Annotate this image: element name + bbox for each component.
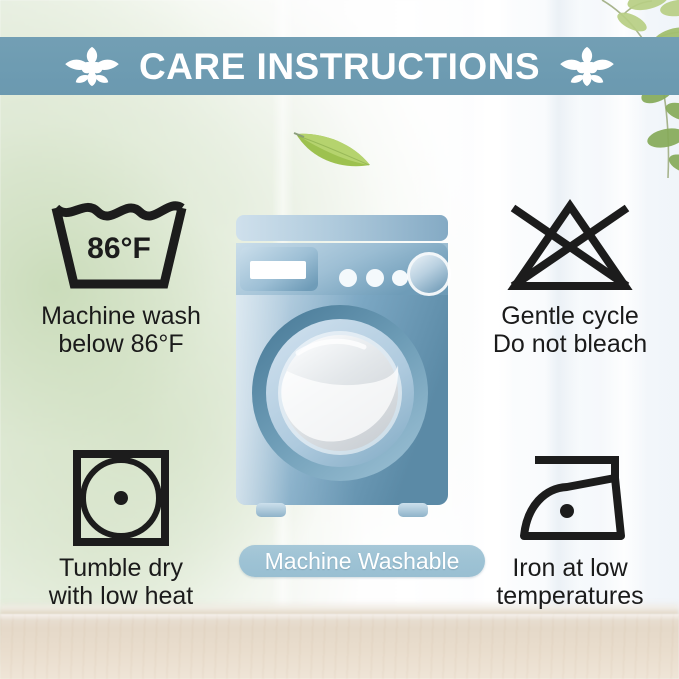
care-symbol-iron: Iron at low temperatures	[470, 448, 670, 611]
iron-icon	[495, 448, 645, 548]
indicator-button-3[interactable]	[392, 270, 408, 286]
floating-leaf-icon	[292, 118, 378, 174]
wooden-table-surface	[0, 614, 679, 679]
fleur-de-lis-icon	[558, 44, 616, 88]
triangle-crossed-out-icon	[495, 196, 645, 296]
washing-machine-illustration	[232, 213, 452, 533]
machine-washable-badge: Machine Washable	[239, 545, 485, 577]
tumble-dry-square-icon	[61, 448, 181, 548]
drawer-display	[250, 261, 306, 279]
indicator-button-2[interactable]	[366, 269, 384, 287]
care-symbol-caption: Gentle cycle Do not bleach	[493, 302, 647, 359]
care-instructions-graphic: CARE INSTRUCTIONS 86°F Machine wash belo…	[0, 0, 679, 679]
washer-top-lid	[236, 215, 448, 241]
fleur-de-lis-icon	[63, 44, 121, 88]
washer-foot-right	[398, 503, 428, 517]
header-banner: CARE INSTRUCTIONS	[0, 37, 679, 95]
badge-label: Machine Washable	[265, 550, 460, 573]
indicator-button-1[interactable]	[339, 269, 357, 287]
care-symbol-tumble-dry: Tumble dry with low heat	[16, 448, 226, 611]
wash-tub-icon: 86°F	[46, 196, 196, 296]
care-symbol-caption: Iron at low temperatures	[496, 554, 643, 611]
care-symbol-caption: Tumble dry with low heat	[49, 554, 194, 611]
care-symbol-gentle-no-bleach: Gentle cycle Do not bleach	[470, 196, 670, 359]
wash-temperature-label: 86°F	[87, 232, 151, 265]
washer-foot-left	[256, 503, 286, 517]
care-symbol-caption: Machine wash below 86°F	[41, 302, 201, 359]
page-title: CARE INSTRUCTIONS	[139, 48, 540, 85]
program-knob[interactable]	[410, 255, 448, 293]
care-symbol-machine-wash: 86°F Machine wash below 86°F	[16, 196, 226, 359]
